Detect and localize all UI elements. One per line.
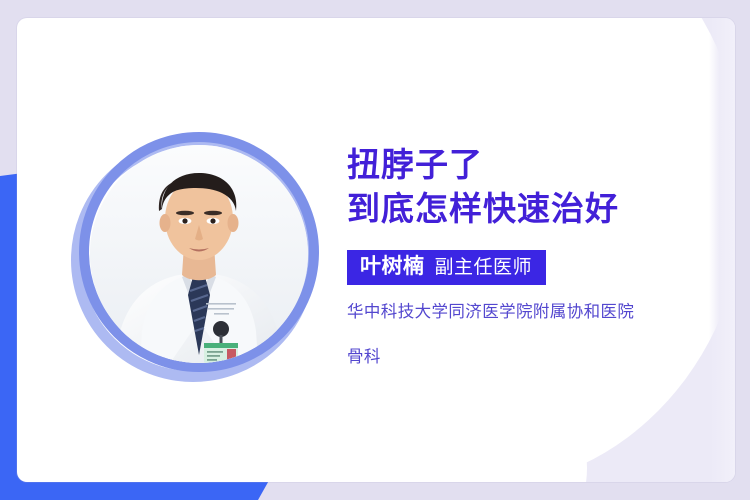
avatar — [63, 130, 325, 392]
doctor-portrait-photo — [90, 145, 308, 363]
doctor-rank: 副主任医师 — [435, 257, 533, 278]
doctor-info-card: 扭脖子了到底怎样快速治好 叶树楠副主任医师 华中科技大学同济医学院附属协和医院 … — [17, 18, 735, 482]
doctor-text-column: 扭脖子了到底怎样快速治好 叶树楠副主任医师 华中科技大学同济医学院附属协和医院 … — [347, 143, 735, 365]
title-line-2: 到底怎样快速治好 — [347, 190, 619, 227]
title-line-1: 扭脖子了 — [347, 146, 483, 183]
poster-canvas: 扭脖子了到底怎样快速治好 叶树楠副主任医师 华中科技大学同济医学院附属协和医院 … — [0, 0, 750, 500]
hospital-name: 华中科技大学同济医学院附属协和医院 — [347, 304, 735, 321]
doctor-name-badge: 叶树楠副主任医师 — [347, 250, 546, 285]
department-name: 骨科 — [347, 349, 735, 366]
doctor-name: 叶树楠 — [360, 255, 425, 278]
page-title: 扭脖子了到底怎样快速治好 — [347, 143, 735, 231]
